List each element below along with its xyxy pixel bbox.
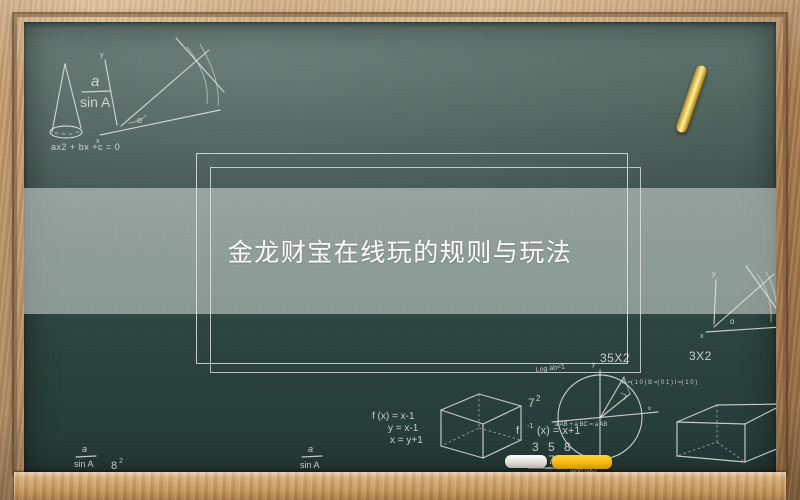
screenshot-root: a sin A ax2 + bx +c = 0 y x o	[0, 0, 800, 500]
svg-text:3 5 8: 3 5 8	[532, 440, 574, 454]
chalk-ledge	[14, 472, 786, 500]
svg-text:sin A: sin A	[300, 460, 320, 470]
svg-text:f (x) = x-1: f (x) = x-1	[372, 411, 415, 422]
svg-text:2: 2	[536, 394, 541, 403]
svg-text:x: x	[700, 333, 704, 340]
chalk-stick-icon	[675, 64, 708, 134]
svg-text:y: y	[100, 52, 104, 59]
white-chalk-icon	[505, 455, 547, 468]
title-banner: 金龙财宝在线玩的规则与玩法	[24, 188, 776, 314]
svg-text:-1: -1	[527, 423, 533, 430]
svg-text:o: o	[137, 115, 142, 125]
unit-circle-diagram: y x	[552, 362, 658, 462]
cone-drawing	[50, 64, 82, 138]
svg-text:x: x	[96, 138, 100, 145]
svg-text:a AB + a BC = a AB: a AB + a BC = a AB	[555, 422, 607, 428]
svg-text:a: a	[82, 444, 87, 454]
svg-text:a: a	[91, 73, 99, 90]
fraction-a-over-sinA-topleft: a sin A	[80, 73, 111, 110]
svg-text:f: f	[516, 425, 520, 437]
svg-text:x: x	[648, 406, 651, 412]
yellow-chalk-icon	[552, 455, 612, 469]
cube-drawing-right	[677, 404, 776, 462]
page-title: 金龙财宝在线玩的规则与玩法	[228, 233, 573, 269]
svg-text:y = x-1: y = x-1	[388, 423, 419, 434]
svg-text:sin A: sin A	[80, 94, 111, 110]
svg-text:x = y+1: x = y+1	[390, 435, 423, 446]
function-equations: f (x) = x-1 y = x-1 x = y+1	[372, 411, 423, 446]
svg-text:8: 8	[111, 460, 117, 472]
angle-diagram-left: y x o	[96, 38, 224, 145]
quadratic-equation: ax2 + bx +c = 0	[51, 142, 120, 152]
svg-text:a: a	[308, 444, 313, 454]
svg-text:(x) = x+1: (x) = x+1	[537, 425, 580, 437]
matrix-expression: A =( 1 0 ) B =( 0 1 ) I =( 1 0 )	[622, 380, 697, 386]
svg-text:sin A: sin A	[74, 459, 94, 469]
chalkboard: a sin A ax2 + bx +c = 0 y x o	[24, 22, 776, 472]
cube-drawing-left	[441, 394, 521, 458]
svg-text:2: 2	[119, 458, 123, 465]
label-3x2: 3X2	[689, 349, 712, 363]
svg-text:7: 7	[528, 396, 535, 410]
svg-text:o: o	[730, 317, 735, 326]
